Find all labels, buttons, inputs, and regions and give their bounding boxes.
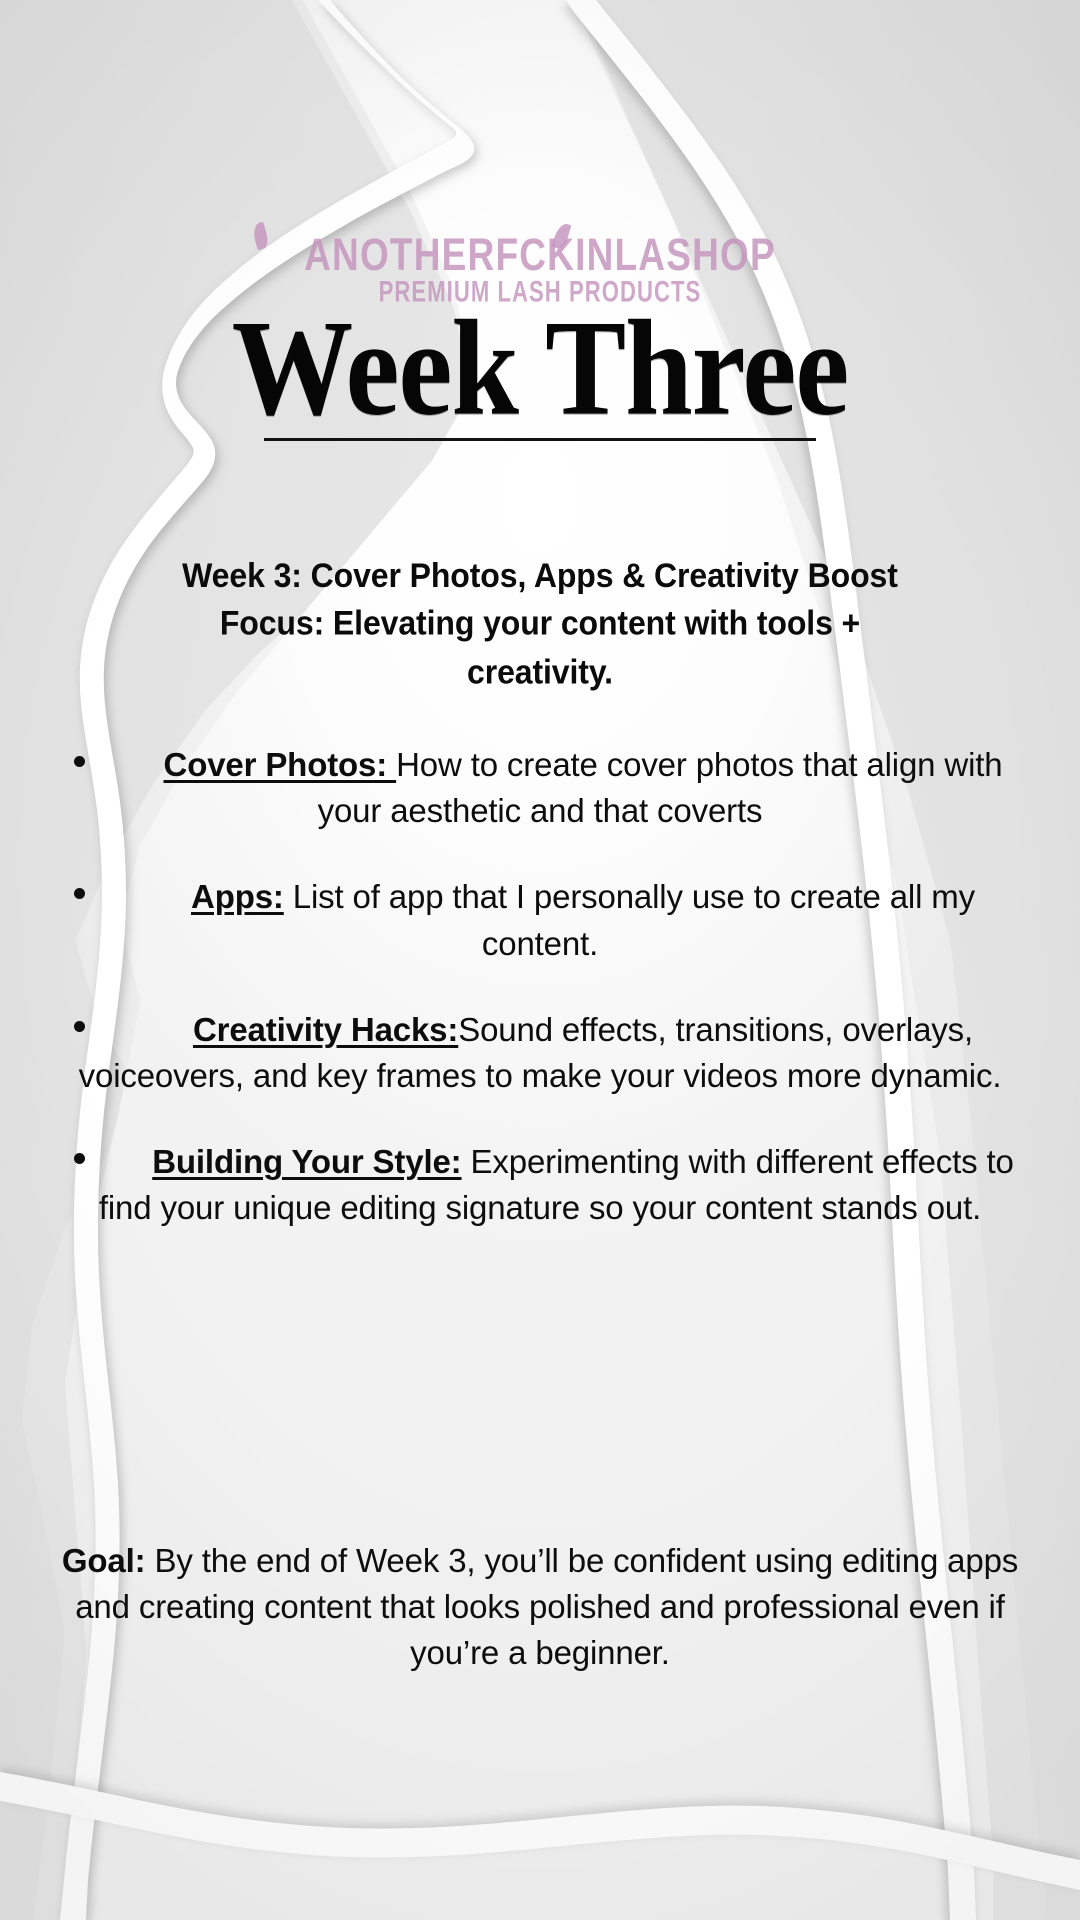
bullet-dot-icon: [74, 756, 85, 767]
goal-lead-label: Goal:: [62, 1542, 146, 1579]
subtitle-line-2: Focus: Elevating your content with tools…: [62, 600, 1018, 648]
subtitle-line-3: creativity.: [62, 648, 1018, 696]
brand-wordmark: ANOTHERFCKINLASHOP: [304, 232, 776, 277]
bullet-lead-label: Apps:: [191, 878, 284, 915]
bullet-lead-label: Creativity Hacks:: [193, 1011, 458, 1048]
bullet-list: Cover Photos: How to create cover photos…: [52, 742, 1028, 1272]
brand-logo: ANOTHERFCKINLASHOP PREMIUM LASH PRODUCTS: [0, 232, 1080, 300]
bullet-body-text: List of app that I personally use to cre…: [284, 878, 975, 961]
title-section: Week Three: [0, 300, 1080, 441]
bullet-body-text: How to create cover photos that align wi…: [318, 746, 1003, 829]
list-item: Creativity Hacks:Sound effects, transiti…: [52, 1007, 1028, 1099]
list-item: Cover Photos: How to create cover photos…: [52, 742, 1028, 834]
story-slide: ANOTHERFCKINLASHOP PREMIUM LASH PRODUCTS…: [0, 0, 1080, 1920]
subtitle-block: Week 3: Cover Photos, Apps & Creativity …: [62, 552, 1018, 696]
bullet-dot-icon: [74, 1021, 85, 1032]
lash-flick-icon-left: [251, 222, 271, 251]
subtitle-line-1: Week 3: Cover Photos, Apps & Creativity …: [62, 552, 1018, 600]
slide-content: ANOTHERFCKINLASHOP PREMIUM LASH PRODUCTS…: [0, 0, 1080, 1920]
page-title: Week Three: [0, 300, 1080, 437]
bullet-dot-icon: [74, 1153, 85, 1164]
bullet-lead-label: Cover Photos:: [164, 746, 397, 783]
list-item: Apps: List of app that I personally use …: [52, 874, 1028, 966]
goal-body-text: By the end of Week 3, you’ll be confiden…: [75, 1542, 1018, 1671]
goal-paragraph: Goal: By the end of Week 3, you’ll be co…: [40, 1538, 1040, 1677]
list-item: Building Your Style: Experimenting with …: [52, 1139, 1028, 1231]
bullet-dot-icon: [74, 888, 85, 899]
bullet-lead-label: Building Your Style:: [152, 1143, 461, 1180]
